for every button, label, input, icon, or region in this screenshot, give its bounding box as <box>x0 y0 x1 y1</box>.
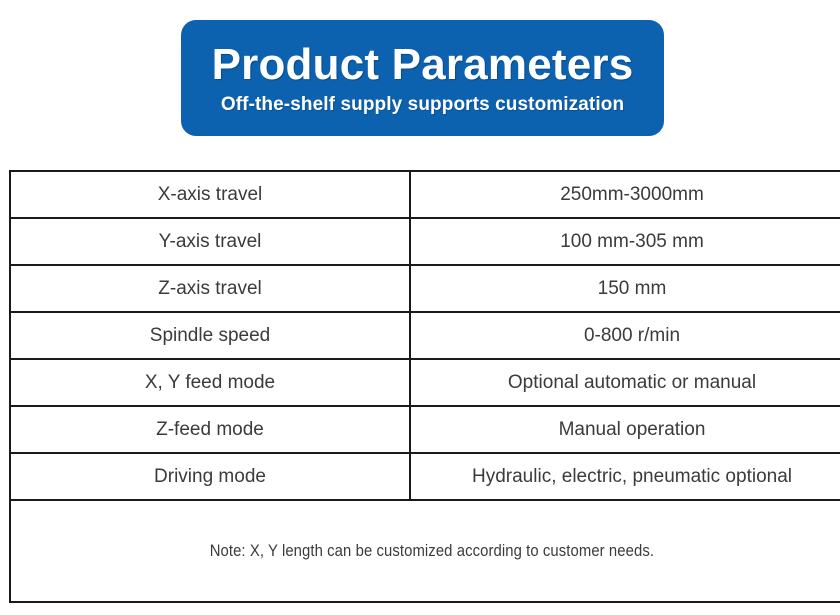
table-row: Y-axis travel 100 mm-305 mm <box>10 218 840 265</box>
parameter-label: Driving mode <box>10 453 410 500</box>
table-note-cell: Note: X, Y length can be customized acco… <box>10 500 840 602</box>
customization-note: Note: X, Y length can be customized acco… <box>210 542 654 561</box>
table-row: Driving mode Hydraulic, electric, pneuma… <box>10 453 840 500</box>
parameter-label: Z-axis travel <box>10 265 410 312</box>
table-row: Spindle speed 0-800 r/min <box>10 312 840 359</box>
parameter-value: Manual operation <box>410 406 840 453</box>
table-row: X-axis travel 250mm-3000mm <box>10 171 840 218</box>
product-parameters-banner: Product Parameters Off-the-shelf supply … <box>181 20 664 136</box>
parameter-value: 150 mm <box>410 265 840 312</box>
parameter-value: 250mm-3000mm <box>410 171 840 218</box>
page-subtitle: Off-the-shelf supply supports customizat… <box>221 95 624 116</box>
parameter-label: X, Y feed mode <box>10 359 410 406</box>
parameter-label: X-axis travel <box>10 171 410 218</box>
table-row: Z-axis travel 150 mm <box>10 265 840 312</box>
table-row: Z-feed mode Manual operation <box>10 406 840 453</box>
parameter-value: Hydraulic, electric, pneumatic optional <box>410 453 840 500</box>
table-note-row: Note: X, Y length can be customized acco… <box>10 500 840 602</box>
parameter-label: Spindle speed <box>10 312 410 359</box>
page-title: Product Parameters <box>212 42 634 88</box>
parameter-label: Y-axis travel <box>10 218 410 265</box>
product-parameters-table: X-axis travel 250mm-3000mm Y-axis travel… <box>9 170 840 603</box>
parameter-value: 100 mm-305 mm <box>410 218 840 265</box>
parameter-value: 0-800 r/min <box>410 312 840 359</box>
parameter-value: Optional automatic or manual <box>410 359 840 406</box>
table-row: X, Y feed mode Optional automatic or man… <box>10 359 840 406</box>
parameter-label: Z-feed mode <box>10 406 410 453</box>
spec-table-body: X-axis travel 250mm-3000mm Y-axis travel… <box>10 171 840 602</box>
